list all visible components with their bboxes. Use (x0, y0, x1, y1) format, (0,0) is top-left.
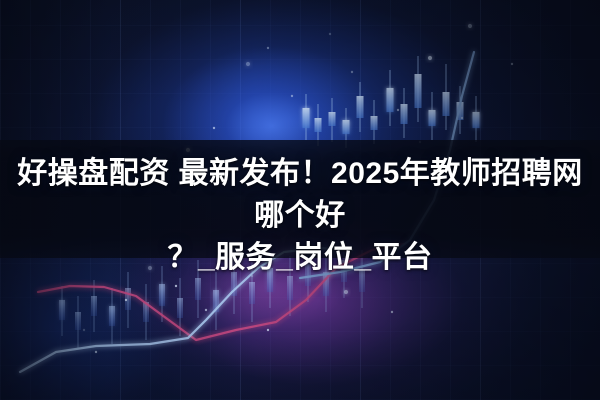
page-title-line2: ？_服务_岗位_平台 (10, 237, 590, 279)
candles-upper-cluster (303, 56, 480, 148)
page-title: 好操盘配资 最新发布！2025年教师招聘网哪个好 ？_服务_岗位_平台 (0, 153, 600, 279)
page-title-line1: 好操盘配资 最新发布！2025年教师招聘网哪个好 (17, 157, 583, 232)
banner-image: 好操盘配资 最新发布！2025年教师招聘网哪个好 ？_服务_岗位_平台 (0, 0, 600, 400)
